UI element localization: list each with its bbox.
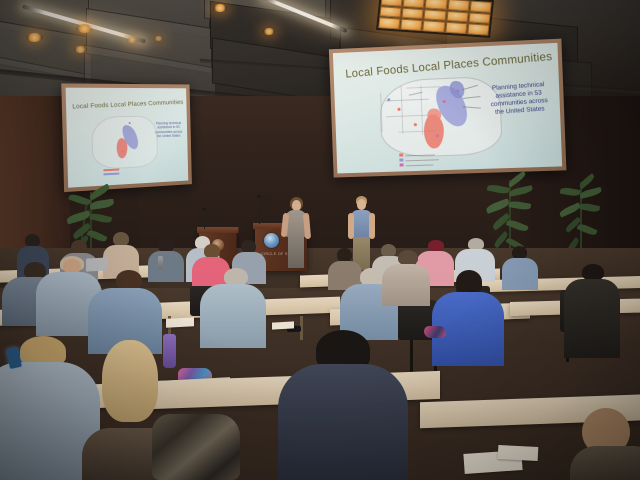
attendee-mid-4 <box>200 268 266 348</box>
presenter-legs <box>288 236 304 268</box>
microphone-icon <box>204 210 217 229</box>
recessed-spot-icon <box>26 33 43 42</box>
main-slide-note: Planning technical assistance in 53 comm… <box>489 81 550 118</box>
presenter-head <box>357 199 366 210</box>
presenter-at-podium <box>281 197 313 269</box>
recessed-spot-icon <box>263 28 275 35</box>
microphone-icon <box>259 197 276 224</box>
attendee-mid-8 <box>382 250 430 306</box>
chair-leg <box>410 340 413 374</box>
attendee-front-4 <box>570 400 640 480</box>
presenter-arm-left <box>348 213 354 239</box>
secondary-slide-title: Local Foods Local Places Communities <box>72 99 183 111</box>
floral-pouch <box>424 326 446 338</box>
patterned-bag <box>152 414 240 480</box>
main-slide-title: Local Foods Local Places Communities <box>345 51 553 81</box>
secondary-slide-note: Planning technical assistance in 53 comm… <box>153 121 183 138</box>
presenter-arm-right <box>303 213 311 239</box>
handout-paper <box>166 317 194 327</box>
attendee-mid-6 <box>562 264 622 358</box>
recessed-spot-icon <box>154 36 163 41</box>
podium-seal <box>264 233 279 248</box>
recessed-spot-icon <box>213 4 227 12</box>
secondary-projection-screen: Local Foods Local Places Communities Pla… <box>61 83 192 192</box>
attendee-back-10 <box>502 246 538 290</box>
presenter-arm-right <box>369 213 375 239</box>
handout-paper <box>272 321 294 329</box>
recessed-spot-icon <box>76 24 93 33</box>
conference-room-photo: Local Foods Local Places Communities Pla… <box>0 0 640 480</box>
handout-paper <box>498 445 539 461</box>
attendee-front-3 <box>278 330 408 480</box>
secondary-slide-map <box>91 116 158 170</box>
water-bottle-grey <box>158 256 163 269</box>
main-slide-map <box>379 76 503 158</box>
recessed-spot-icon <box>127 37 137 43</box>
attendee-mid-5 <box>432 270 504 366</box>
secondary-slide-legend <box>104 173 120 176</box>
main-projection-screen: Local Foods Local Places Communities <box>329 39 567 178</box>
secondary-slide-legend <box>103 169 119 172</box>
recessed-spot-icon <box>74 46 87 53</box>
